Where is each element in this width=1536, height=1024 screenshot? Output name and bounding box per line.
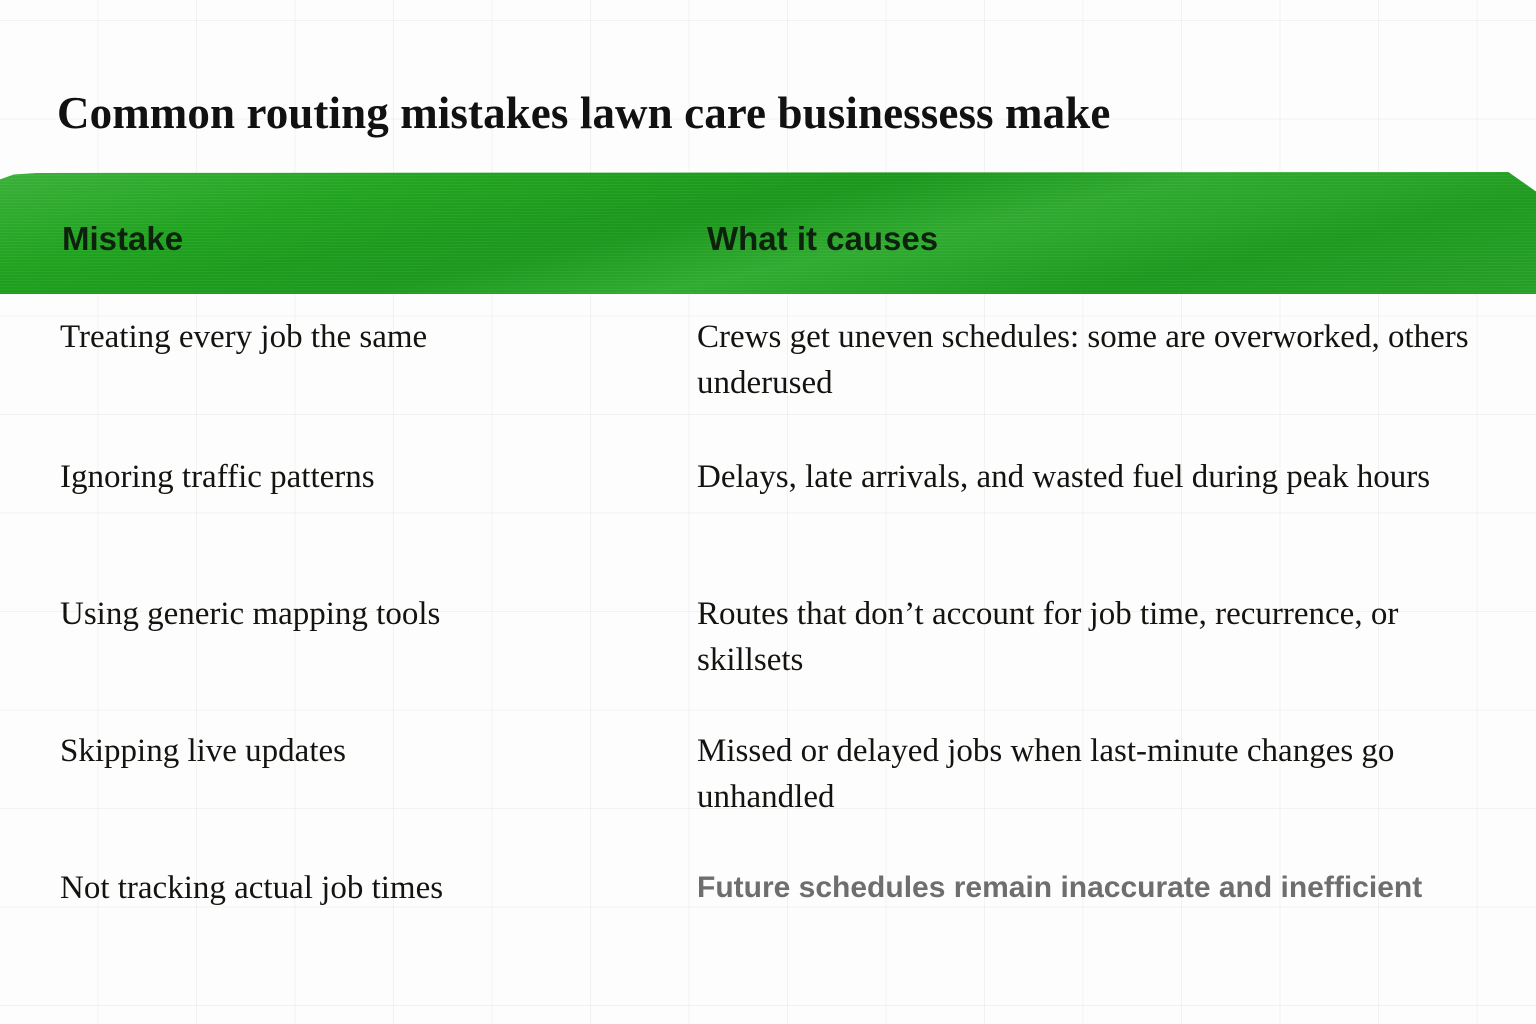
infographic-page: Common routing mistakes lawn care busine… — [0, 0, 1536, 1024]
page-title: Common routing mistakes lawn care busine… — [57, 86, 1487, 140]
cell-mistake: Using generic mapping tools — [0, 571, 645, 637]
cell-mistake: Treating every job the same — [0, 294, 645, 360]
column-header-mistake: Mistake — [62, 220, 183, 258]
table-row: Not tracking actual job times Future sch… — [0, 845, 1536, 985]
column-header-what-it-causes: What it causes — [707, 220, 938, 258]
table-row: Treating every job the same Crews get un… — [0, 294, 1536, 434]
table-row: Ignoring traffic patterns Delays, late a… — [0, 434, 1536, 571]
cell-mistake: Ignoring traffic patterns — [0, 434, 645, 500]
cell-cause: Future schedules remain inaccurate and i… — [645, 845, 1536, 910]
table-body: Treating every job the same Crews get un… — [0, 294, 1536, 985]
cell-cause: Crews get uneven schedules: some are ove… — [645, 294, 1536, 406]
cell-cause: Missed or delayed jobs when last-minute … — [645, 708, 1536, 820]
cell-cause: Routes that don’t account for job time, … — [645, 571, 1536, 683]
cell-mistake: Skipping live updates — [0, 708, 645, 774]
cell-mistake: Not tracking actual job times — [0, 845, 645, 911]
cell-cause: Delays, late arrivals, and wasted fuel d… — [645, 434, 1536, 500]
table-row: Skipping live updates Missed or delayed … — [0, 708, 1536, 845]
table-row: Using generic mapping tools Routes that … — [0, 571, 1536, 708]
